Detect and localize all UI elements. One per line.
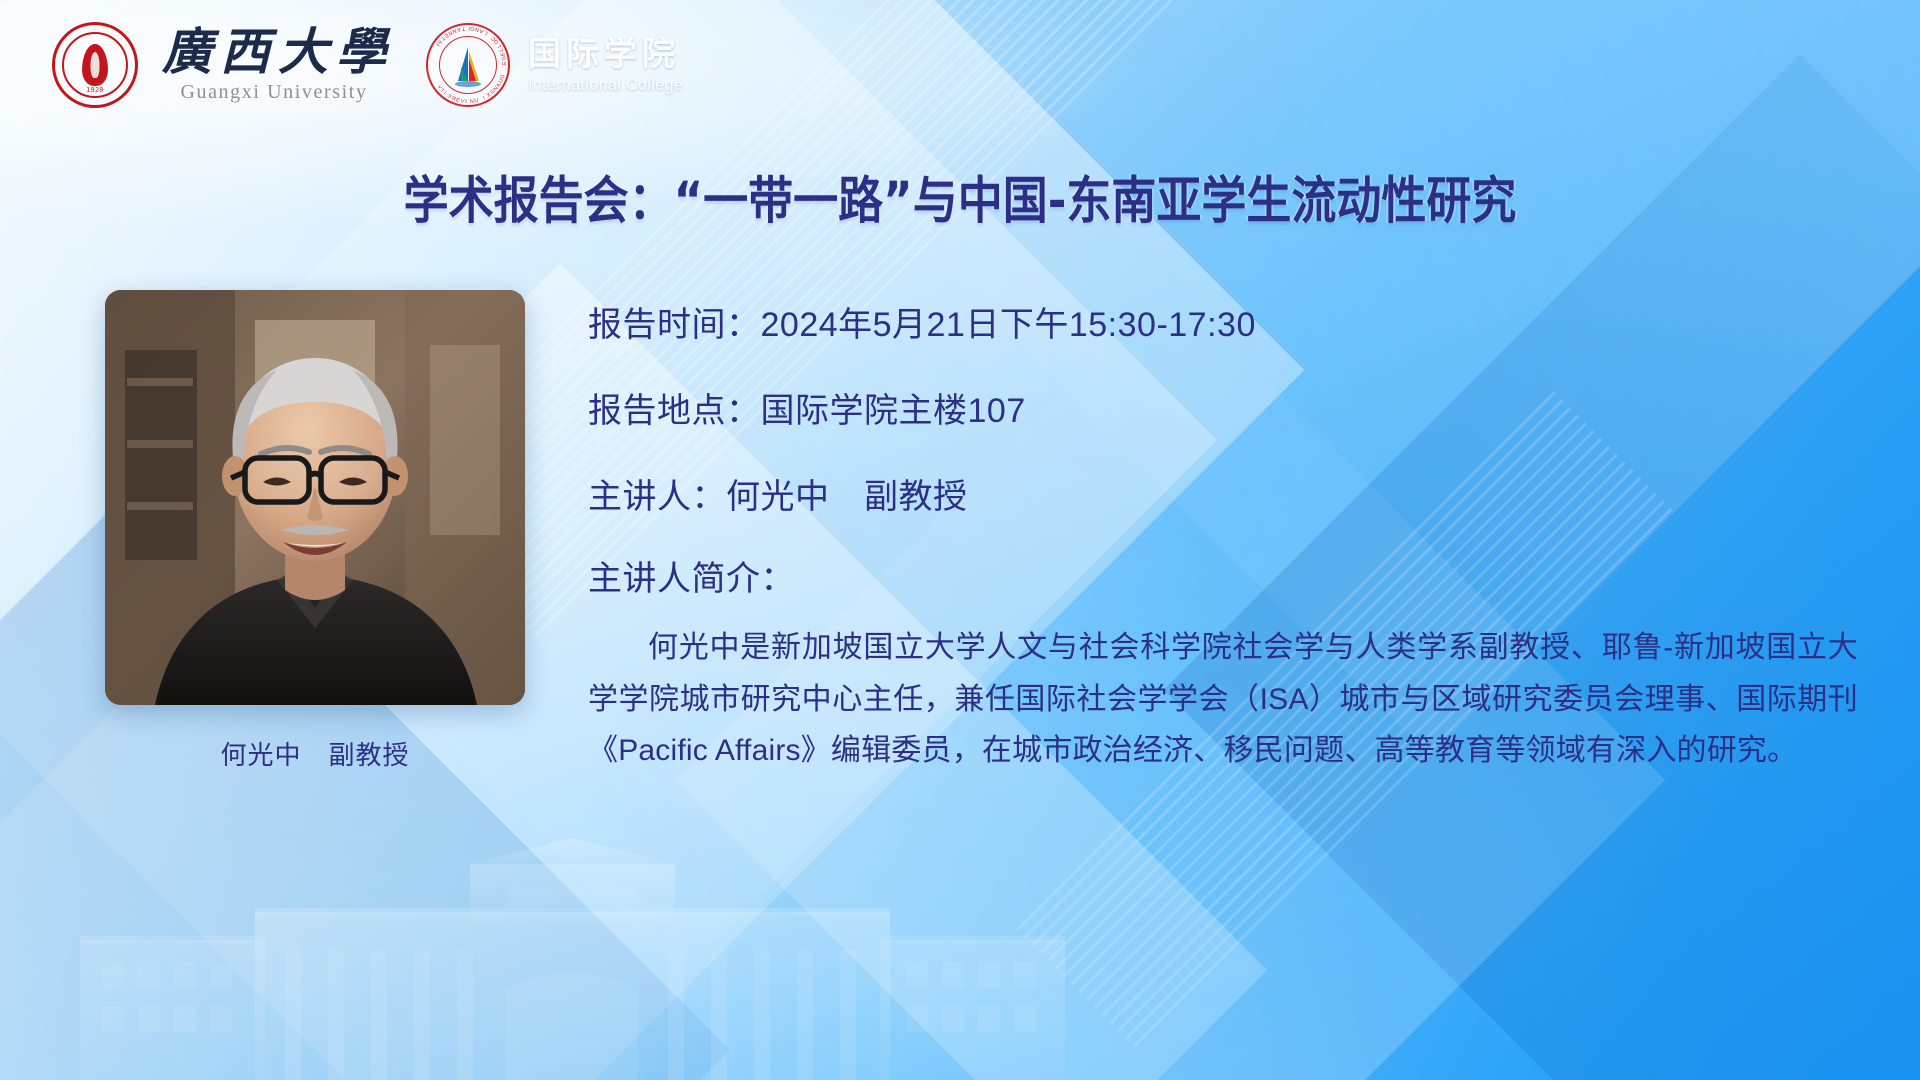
- report-time-line: 报告时间：2024年5月21日下午15:30-17:30: [588, 308, 1868, 342]
- college-name-block: 国际学院 International College: [528, 35, 683, 96]
- international-college-seal-icon: INTERNATIONAL COLLEGE, GUANGXI UNIVERSIT…: [426, 23, 510, 107]
- gxu-seal-icon: 1928: [52, 22, 138, 108]
- poster-title: 学术报告会：“一带一路”与中国-东南亚学生流动性研究: [0, 160, 1920, 233]
- speaker-bio-text: 何光中是新加坡国立大学人文与社会科学院社会学与人类学系副教授、耶鲁-新加坡国立大…: [588, 622, 1858, 777]
- university-name-block: 廣西大學 Guangxi University: [154, 26, 394, 104]
- college-seal-ring-text: INTERNATIONAL COLLEGE, GUANGXI UNIVERSIT…: [428, 25, 508, 105]
- gxu-seal-flame-icon: [82, 44, 108, 86]
- university-logo: 1928 廣西大學 Guangxi University: [52, 22, 394, 108]
- speaker-line: 主讲人：何光中 副教授: [588, 480, 1868, 514]
- speaker-photo: [105, 290, 525, 705]
- college-logo: INTERNATIONAL COLLEGE, GUANGXI UNIVERSIT…: [426, 23, 683, 107]
- poster-header: 1928 廣西大學 Guangxi University INTERNATION…: [52, 22, 683, 108]
- speaker-photo-caption: 何光中 副教授: [105, 735, 525, 772]
- university-name-cn: 廣西大學: [154, 26, 394, 79]
- gxu-seal-year: 1928: [55, 87, 135, 94]
- college-name-en: International College: [528, 77, 683, 95]
- speaker-portrait-image: [105, 290, 525, 705]
- speaker-bio-label: 主讲人简介：: [588, 562, 1868, 596]
- report-place-line: 报告地点：国际学院主楼107: [588, 394, 1868, 428]
- info-block: 报告时间：2024年5月21日下午15:30-17:30 报告地点：国际学院主楼…: [588, 308, 1868, 777]
- university-name-en: Guangxi University: [180, 81, 367, 104]
- poster-canvas: 1928 廣西大學 Guangxi University INTERNATION…: [0, 0, 1920, 1080]
- campus-building-silhouette-icon: [40, 830, 1100, 1080]
- college-name-cn: 国际学院: [528, 35, 683, 73]
